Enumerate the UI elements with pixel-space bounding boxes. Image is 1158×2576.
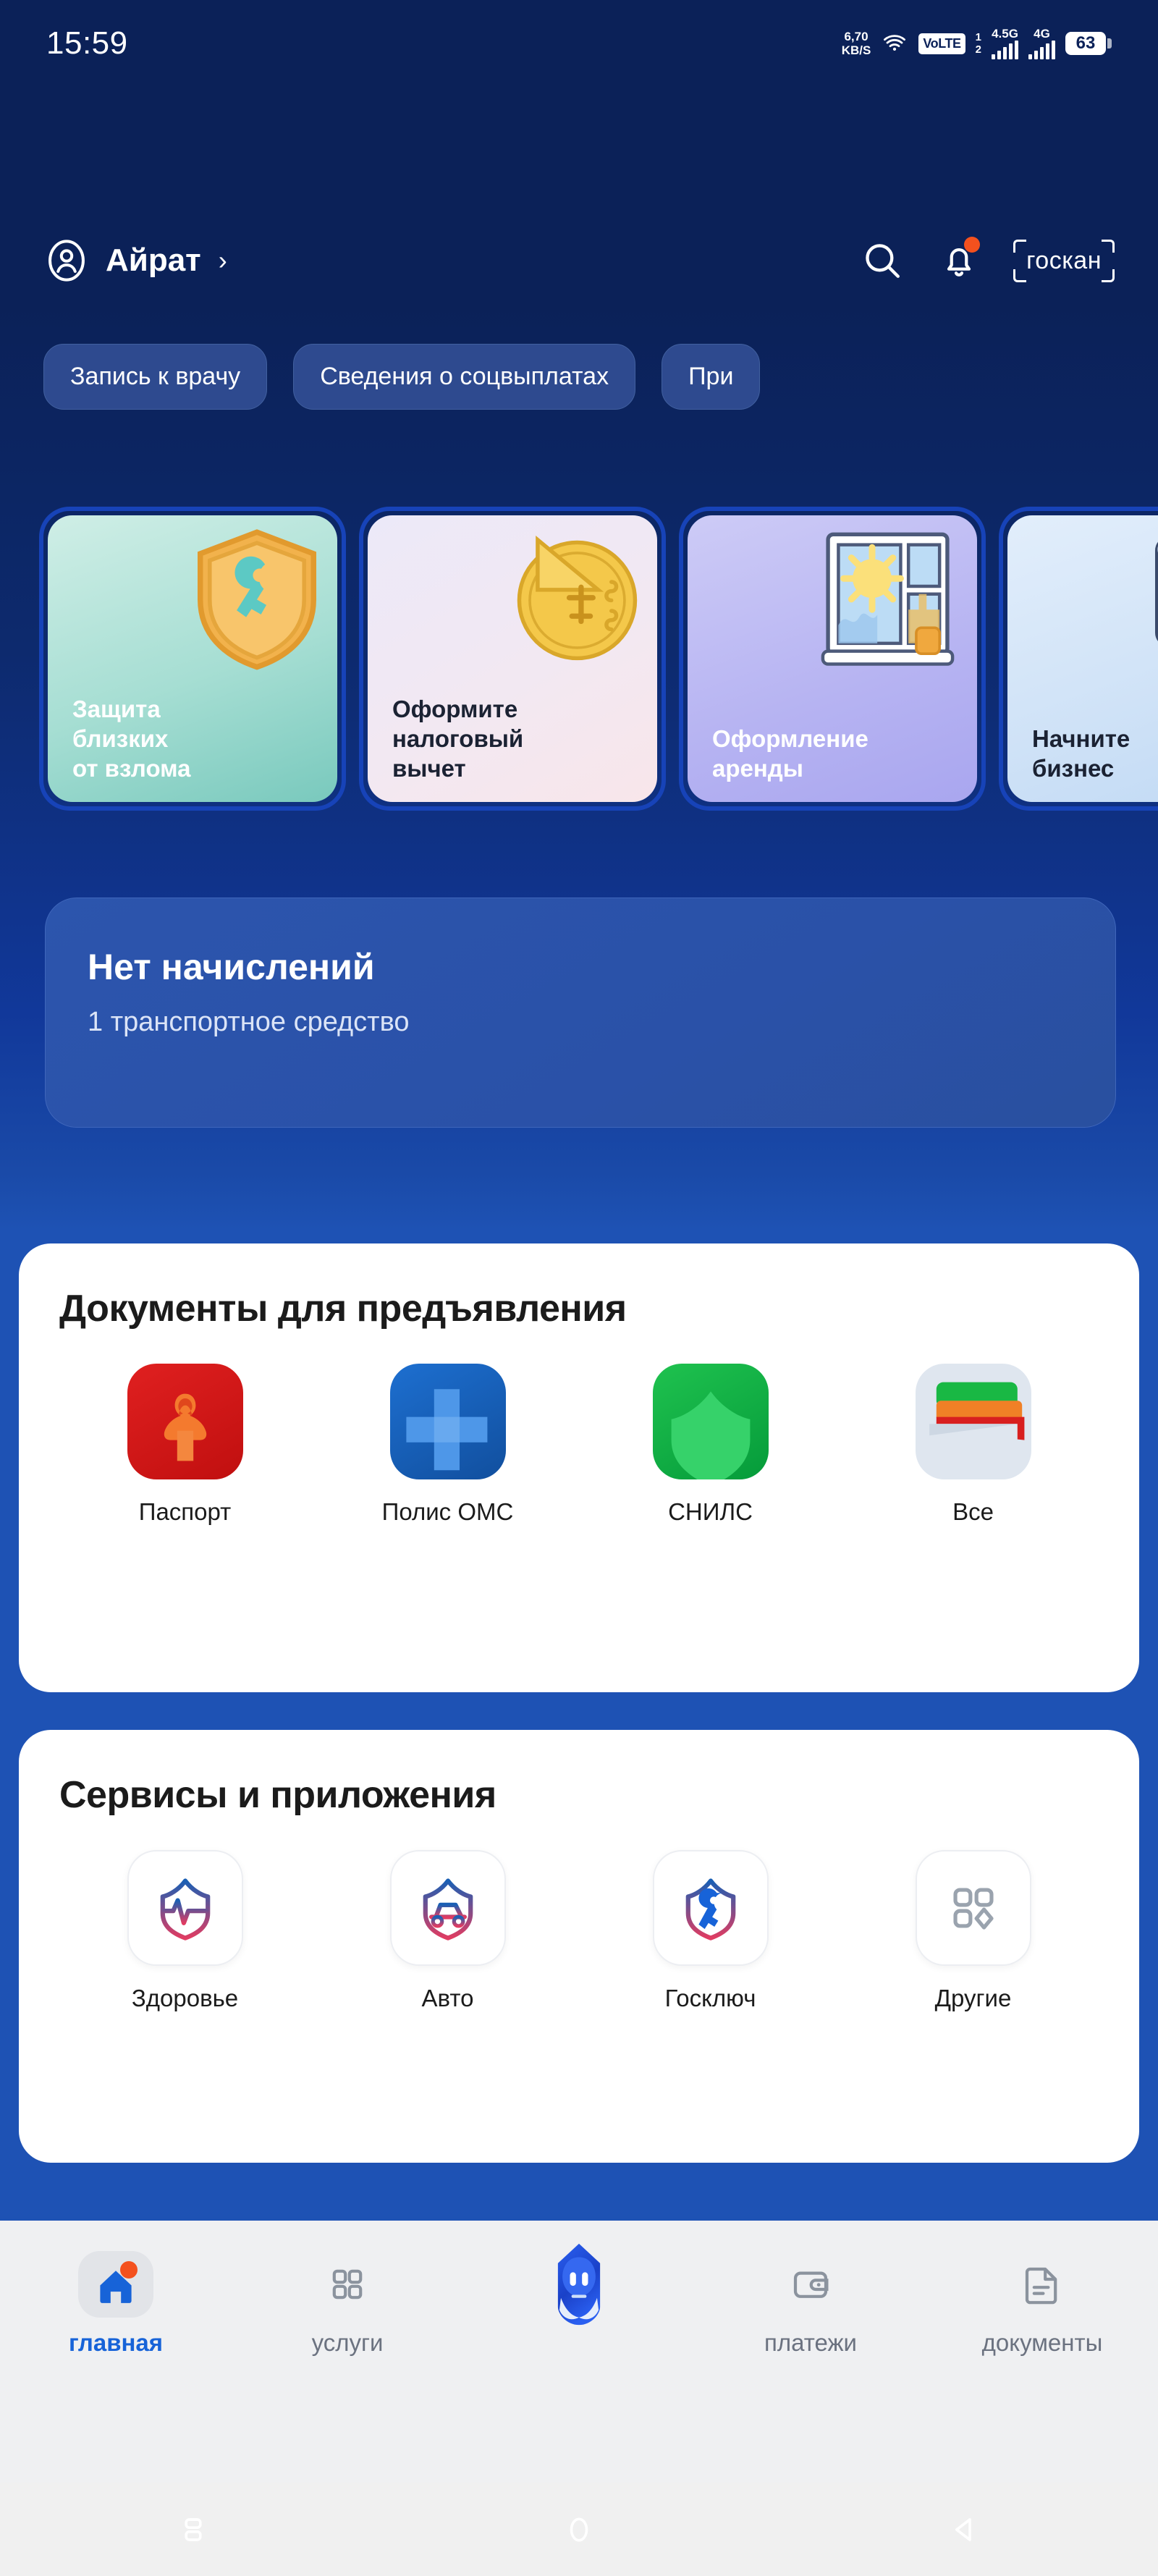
documents-section: Документы для предъявления Паспорт [19,1243,1139,1692]
grid-icon [310,2251,385,2318]
nav-item-services[interactable]: услуги [232,2251,463,2357]
chip-third-partial[interactable]: При [662,344,760,410]
goskey-icon [653,1850,769,1966]
sim-2-label: 2 [976,43,981,56]
service-tile-auto[interactable]: Авто [316,1850,579,2012]
promo-card-protection-title: Защита близких от взлома [72,694,191,783]
status-bar: 15:59 6,70 KB/S VoLTE 1 2 4.5G [0,0,1158,87]
payments-summary-title: Нет начислений [88,946,1073,988]
snils-shield-icon [653,1364,769,1479]
promo-card-rent-title: Оформление аренды [712,724,868,783]
app-screen: 15:59 6,70 KB/S VoLTE 1 2 4.5G [0,0,1158,2576]
service-tile-health[interactable]: Здоровье [54,1850,316,2012]
document-icon [1005,2251,1080,2318]
document-tile-oms-label: Полис ОМС [382,1498,514,1526]
grid-more-icon [916,1850,1031,1966]
network-type-1: 4.5G [992,28,1018,40]
promo-card-rent[interactable]: Оформление аренды [679,507,986,811]
battery-level: 63 [1065,32,1106,55]
document-tile-passport[interactable]: Паспорт [54,1364,316,1526]
sim-indicator: 1 2 [976,31,981,56]
signal-indicator-2: 4G [1028,28,1055,59]
promo-carousel: Защита близких от взлома Оформите налого… [0,507,1158,811]
service-tile-auto-label: Авто [422,1985,474,2012]
home-icon [78,2251,153,2318]
chip-doctor-appointment[interactable]: Запись к врачу [43,344,267,410]
health-pulse-icon [127,1850,243,1966]
passport-icon [127,1364,243,1479]
nav-item-main-label: главная [69,2329,163,2357]
search-icon[interactable] [860,238,905,283]
back-triangle-icon[interactable] [772,2509,1158,2550]
service-tile-others-label: Другие [935,1985,1012,2012]
assistant-max-icon [541,2251,617,2318]
status-icon-group: 6,70 KB/S VoLTE 1 2 4.5G [842,28,1112,59]
browser-window-icon [1141,524,1158,672]
chip-social-payments[interactable]: Сведения о соцвыплатах [293,344,635,410]
services-tile-list: Здоровье Авто [19,1817,1139,2012]
document-tile-all-label: Все [952,1498,994,1526]
promo-card-protection[interactable]: Защита близких от взлома [39,507,346,811]
document-tile-snils-label: СНИЛС [668,1498,753,1526]
app-header: Айрат › госкан [0,217,1158,304]
nav-item-assistant[interactable] [463,2251,695,2329]
signal-indicator-1: 4.5G [992,28,1018,59]
network-type-2: 4G [1034,28,1050,40]
home-badge [120,2261,138,2279]
wifi-icon [881,32,908,55]
documents-tile-list: Паспорт Полис ОМС СНИЛС [19,1330,1139,1526]
network-speed-indicator: 6,70 KB/S [842,30,871,57]
bottom-navigation: главная услуги [0,2221,1158,2483]
profile-name: Айрат [106,242,201,279]
signal-bars-2-icon [1028,41,1055,59]
payments-summary-subtitle: 1 транспортное средство [88,1007,1073,1038]
goskan-scan-button[interactable]: госкан [1013,240,1115,282]
nav-item-payments-label: платежи [764,2329,857,2357]
wallet-all-icon [916,1364,1031,1479]
medical-policy-icon [390,1364,506,1479]
scan-corner-tl-icon [1013,240,1026,253]
goskan-label: госкан [1026,247,1102,274]
services-section: Сервисы и приложения Здоровье [19,1730,1139,2163]
car-icon [390,1850,506,1966]
battery-indicator: 63 [1065,32,1112,55]
promo-card-business-title: Начните бизнес [1032,724,1130,783]
document-tile-oms[interactable]: Полис ОМС [316,1364,579,1526]
network-speed-value: 6,70 [842,30,871,43]
nav-item-services-label: услуги [312,2329,384,2357]
scan-corner-br-icon [1102,269,1115,282]
android-navigation-bar [0,2483,1158,2576]
nav-item-documents[interactable]: документы [926,2251,1158,2357]
avatar-icon [43,237,90,284]
notifications-bell-icon[interactable] [937,238,981,283]
window-sun-icon [810,524,965,683]
nav-item-payments[interactable]: платежи [695,2251,926,2357]
promo-card-business[interactable]: Начните бизнес [999,507,1158,811]
chevron-right-icon: › [219,245,227,276]
recents-icon[interactable] [0,2509,386,2550]
document-tile-all[interactable]: Все [842,1364,1104,1526]
wallet-icon [773,2251,848,2318]
documents-section-heading: Документы для предъявления [19,1243,1139,1330]
coin-slice-icon [501,524,646,672]
signal-bars-1-icon [992,41,1018,59]
services-section-heading: Сервисы и приложения [19,1730,1139,1817]
payments-summary-card[interactable]: Нет начислений 1 транспортное средство [45,898,1116,1128]
battery-cap-icon [1107,38,1112,48]
nav-item-documents-label: документы [982,2329,1103,2357]
promo-card-tax-deduction-title: Оформите налоговый вычет [392,694,523,783]
nav-item-main[interactable]: главная [0,2251,232,2357]
home-circle-icon[interactable] [386,2509,772,2550]
service-tile-others[interactable]: Другие [842,1850,1104,2012]
notification-badge [964,237,980,253]
network-speed-unit: KB/S [842,43,871,57]
profile-button[interactable]: Айрат › [43,237,227,284]
header-actions: госкан [860,238,1115,283]
service-tile-health-label: Здоровье [132,1985,238,2012]
promo-card-tax-deduction[interactable]: Оформите налоговый вычет [359,507,666,811]
shield-key-icon [188,524,326,676]
sim-1-label: 1 [976,31,981,43]
scan-corner-tr-icon [1102,240,1115,253]
document-tile-passport-label: Паспорт [139,1498,232,1526]
scan-corner-bl-icon [1013,269,1026,282]
volte-badge: VoLTE [918,33,965,54]
status-clock: 15:59 [46,25,128,62]
document-tile-snils[interactable]: СНИЛС [579,1364,842,1526]
service-tile-goskey[interactable]: Госключ [579,1850,842,2012]
quick-action-chips: Запись к врачу Сведения о соцвыплатах Пр… [0,337,1158,416]
service-tile-goskey-label: Госключ [665,1985,756,2012]
